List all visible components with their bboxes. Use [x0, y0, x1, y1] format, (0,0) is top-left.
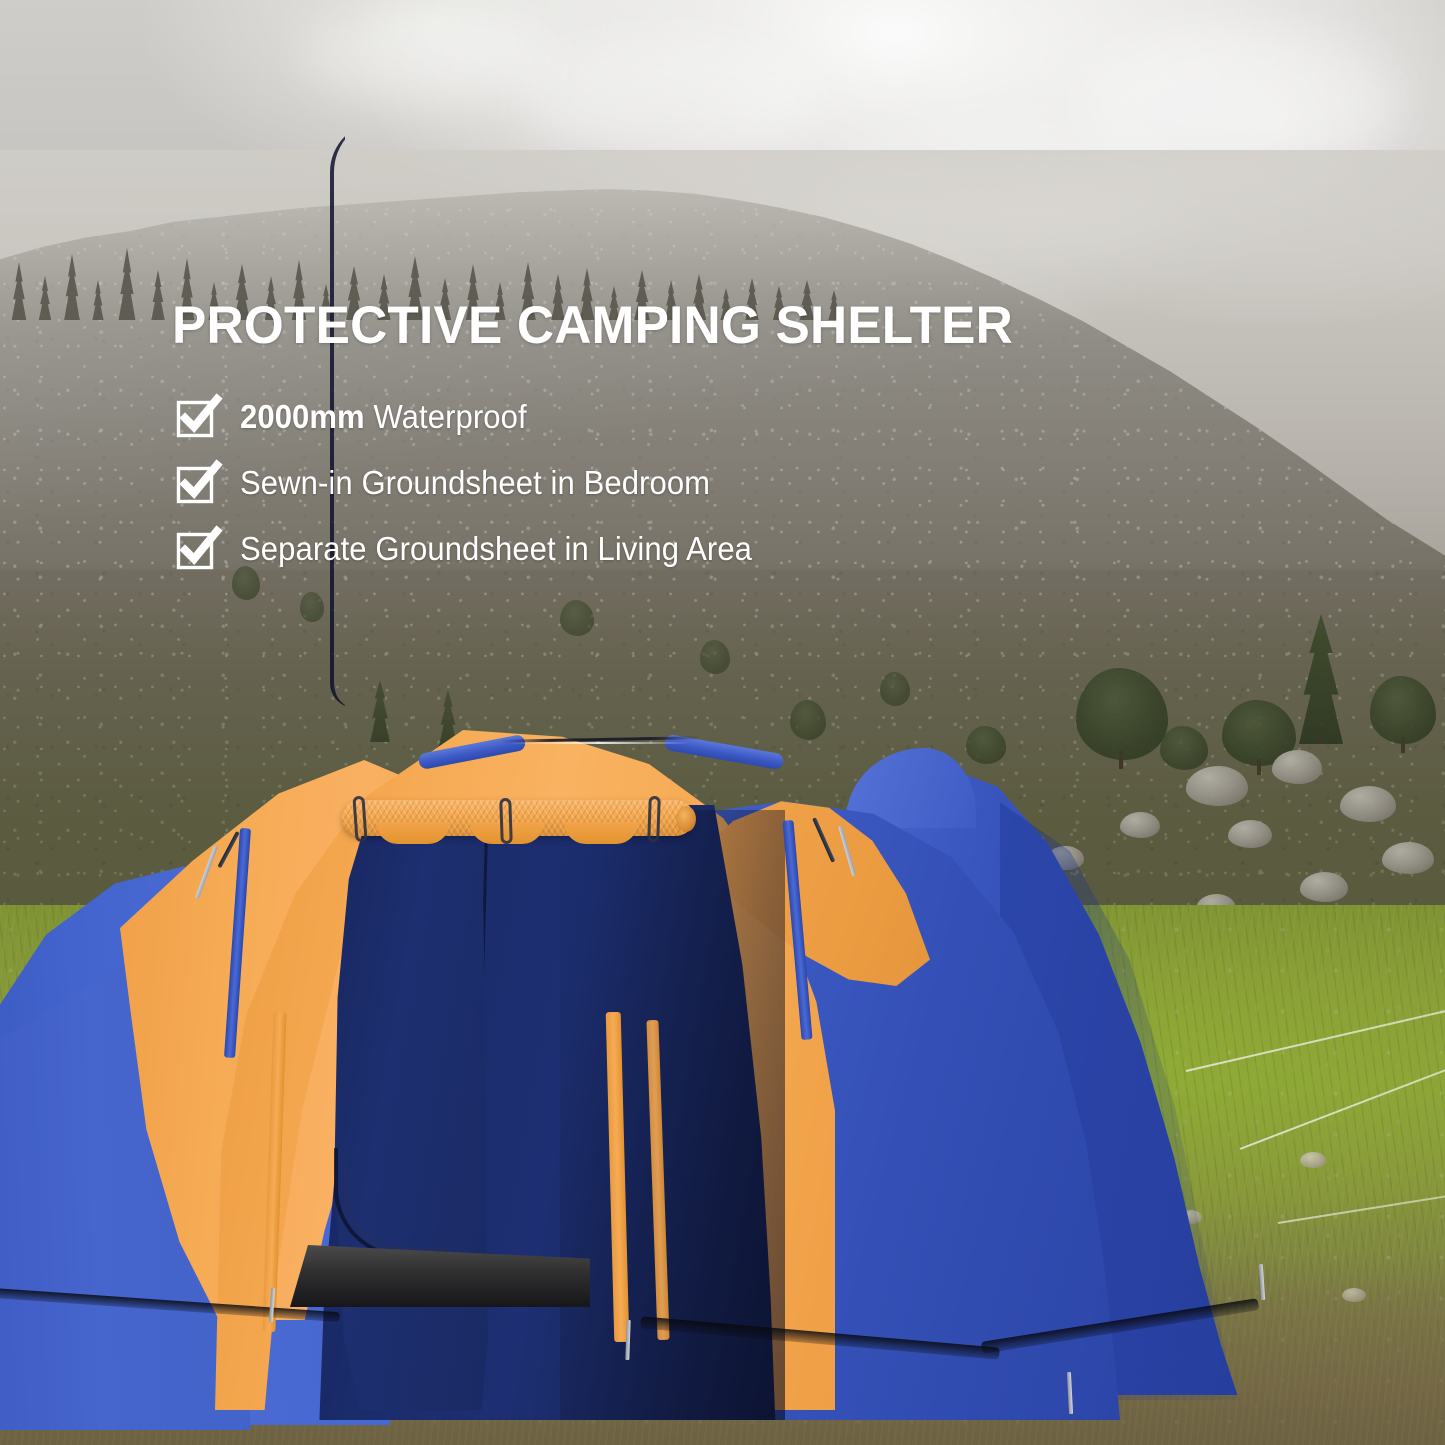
- tree: [700, 640, 730, 674]
- tent-door-toggle[interactable]: [647, 796, 661, 842]
- cloud-streak: [300, 10, 560, 100]
- list-item: Separate Groundsheet in Living Area: [176, 520, 1076, 578]
- checkbox-checked-icon: [176, 396, 218, 438]
- feature-highlight: 2000mm: [240, 398, 365, 435]
- feature-text: 2000mm Waterproof: [240, 398, 527, 436]
- cloud-streak: [1080, 30, 1400, 180]
- list-item: 2000mm Waterproof: [176, 388, 1076, 446]
- tree: [300, 592, 324, 622]
- checkbox-checked-icon: [176, 528, 218, 570]
- tent-door-toggle[interactable]: [499, 798, 513, 844]
- tent-apex-highlight: [510, 742, 690, 744]
- cloud-streak: [520, 40, 820, 160]
- list-item: Sewn-in Groundsheet in Bedroom: [176, 454, 1076, 512]
- feature-text: Sewn-in Groundsheet in Bedroom: [240, 464, 710, 502]
- feature-list: 2000mm Waterproof Sewn-in Groundsheet in…: [176, 388, 1076, 586]
- feature-text: Separate Groundsheet in Living Area: [240, 530, 752, 568]
- checkbox-checked-icon: [176, 462, 218, 504]
- tent-bedroom-door: [328, 820, 488, 1410]
- page-title: PROTECTIVE CAMPING SHELTER: [172, 295, 1013, 356]
- product-banner: PROTECTIVE CAMPING SHELTER 2000mm Waterp…: [0, 0, 1445, 1445]
- feature-rest: Waterproof: [365, 398, 527, 435]
- tent-rolled-door-flap: [342, 800, 694, 836]
- tent-roll-end-cap: [676, 806, 696, 832]
